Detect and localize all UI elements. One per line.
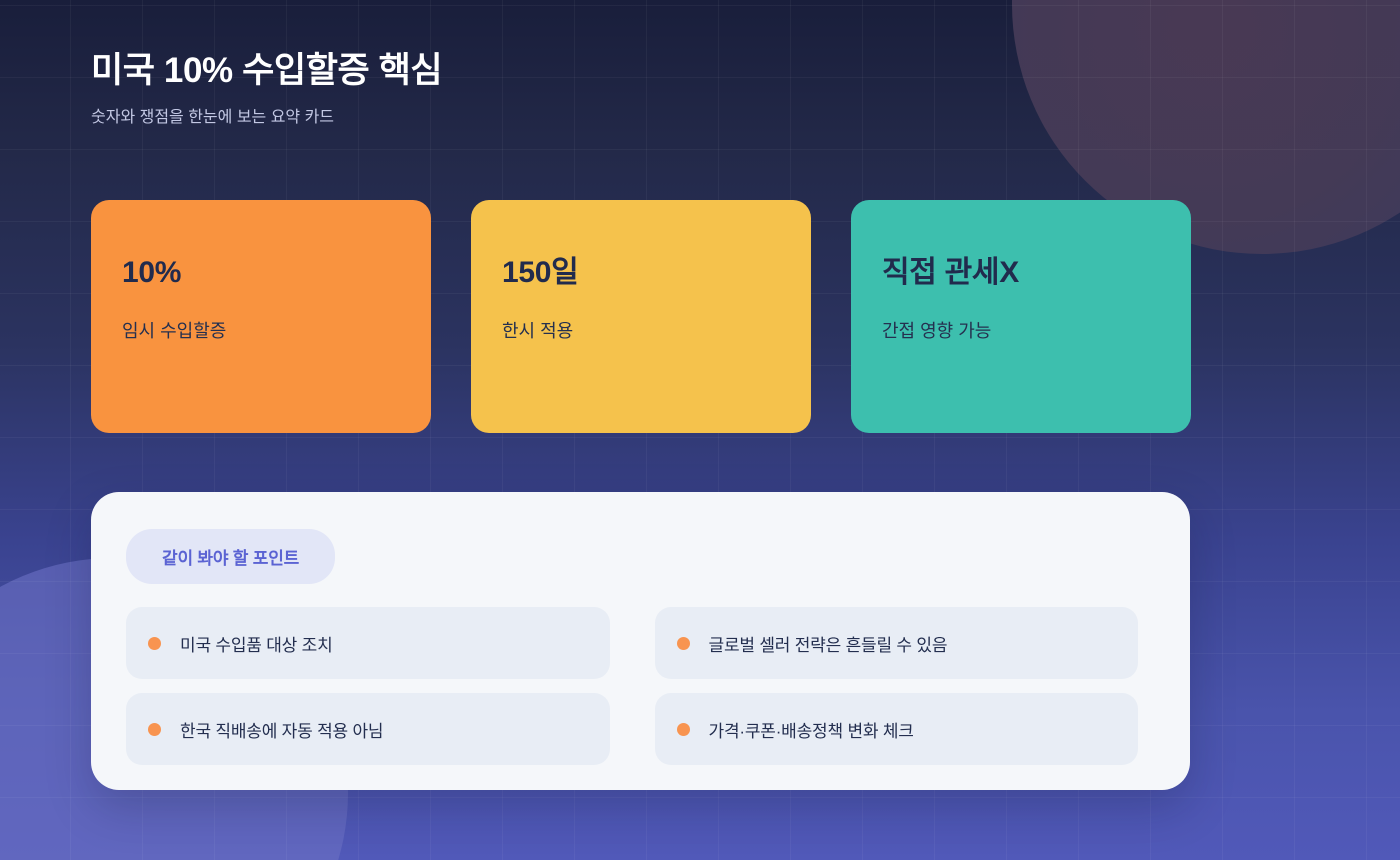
points-grid: 미국 수입품 대상 조치 글로벌 셀러 전략은 흔들릴 수 있음 한국 직배송에… [126, 607, 1138, 765]
page-subtitle: 숫자와 쟁점을 한눈에 보는 요약 카드 [91, 103, 442, 127]
poster-canvas: 미국 10% 수입할증 핵심 숫자와 쟁점을 한눈에 보는 요약 카드 10% … [0, 0, 1400, 860]
bullet-dot-icon [677, 723, 690, 736]
list-item: 가격·쿠폰·배송정책 변화 체크 [655, 693, 1139, 765]
stat-value: 10% [122, 256, 431, 289]
points-panel-badge: 같이 봐야 할 포인트 [126, 529, 335, 584]
bullet-dot-icon [148, 637, 161, 650]
list-item: 글로벌 셀러 전략은 흔들릴 수 있음 [655, 607, 1139, 679]
list-item-label: 가격·쿠폰·배송정책 변화 체크 [709, 717, 914, 742]
list-item-label: 글로벌 셀러 전략은 흔들릴 수 있음 [709, 631, 948, 656]
stat-value: 150일 [502, 256, 811, 289]
bullet-dot-icon [677, 637, 690, 650]
list-item-label: 미국 수입품 대상 조치 [180, 631, 333, 656]
stat-card-duration: 150일 한시 적용 [471, 200, 811, 433]
stat-label: 간접 영향 가능 [882, 317, 1191, 343]
stat-label: 한시 적용 [502, 317, 811, 343]
list-item: 미국 수입품 대상 조치 [126, 607, 610, 679]
bullet-dot-icon [148, 723, 161, 736]
list-item-label: 한국 직배송에 자동 적용 아님 [180, 717, 383, 742]
stat-card-row: 10% 임시 수입할증 150일 한시 적용 직접 관세X 간접 영향 가능 [91, 200, 1191, 433]
header: 미국 10% 수입할증 핵심 숫자와 쟁점을 한눈에 보는 요약 카드 [91, 50, 442, 127]
points-panel: 같이 봐야 할 포인트 미국 수입품 대상 조치 글로벌 셀러 전략은 흔들릴 … [91, 492, 1190, 790]
page-title: 미국 10% 수입할증 핵심 [91, 50, 442, 92]
stat-card-tariff: 직접 관세X 간접 영향 가능 [851, 200, 1191, 433]
stat-card-surcharge: 10% 임시 수입할증 [91, 200, 431, 433]
stat-value: 직접 관세X [882, 256, 1191, 289]
list-item: 한국 직배송에 자동 적용 아님 [126, 693, 610, 765]
stat-label: 임시 수입할증 [122, 317, 431, 343]
